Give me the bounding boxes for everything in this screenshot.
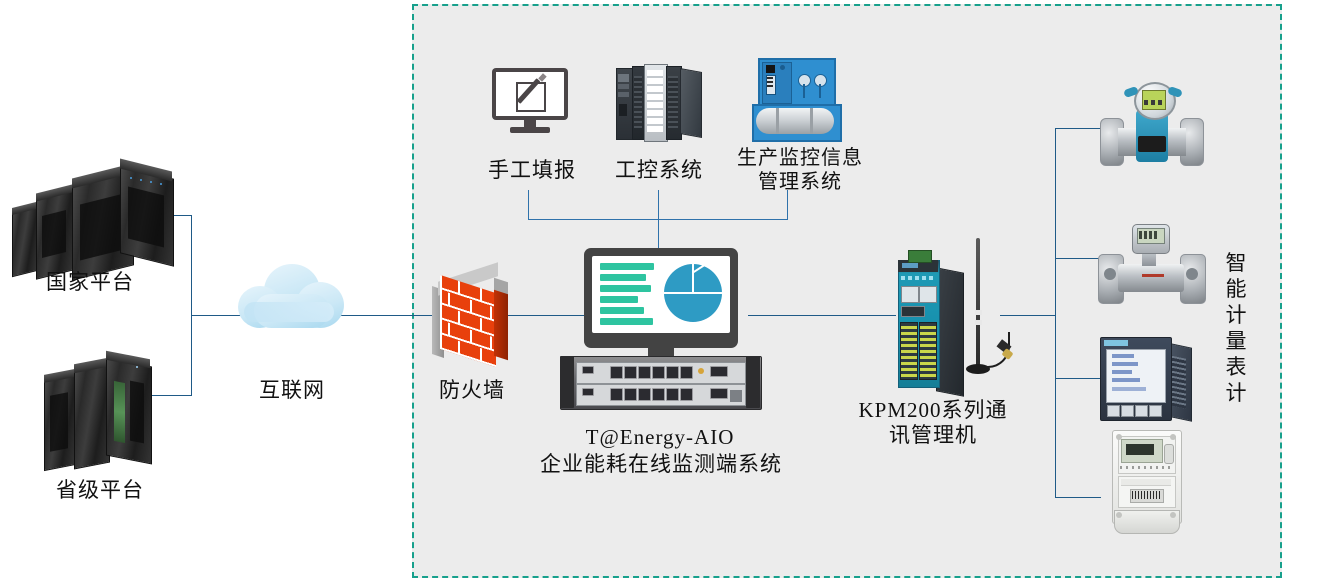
plc-label: 工控系统 <box>594 158 724 183</box>
gateway-label-line1: KPM200系列通 <box>838 398 1028 423</box>
firewall-node[interactable] <box>432 270 512 366</box>
link-manual-drop <box>528 190 529 220</box>
gateway-label-line2: 讯管理机 <box>838 423 1028 448</box>
smart-meters-label: 智能计量表计 <box>1224 250 1250 406</box>
antenna-icon <box>976 238 980 368</box>
gateway-node[interactable] <box>890 238 1010 418</box>
provincial-platform-label: 省级平台 <box>20 478 180 503</box>
plc-node[interactable] <box>616 62 702 142</box>
national-platform-label: 国家平台 <box>10 270 170 295</box>
manual-entry-label: 手工填报 <box>462 158 602 183</box>
meter-electromagnetic-flowmeter[interactable] <box>1100 78 1204 170</box>
meter-vertical-bus <box>1055 128 1056 498</box>
aio-label-line1: T@Energy-AIO <box>560 425 760 450</box>
meter-power-quality[interactable] <box>1100 335 1200 421</box>
aio-label-line2: 企业能耗在线监测端系统 <box>530 452 792 477</box>
production-monitoring-node[interactable] <box>752 58 842 142</box>
meter-turbine-flowmeter[interactable] <box>1098 222 1206 308</box>
link-vertical-bus-left <box>191 215 192 396</box>
production-monitoring-label: 生产监控信息 管理系统 <box>712 146 888 194</box>
manual-entry-node[interactable] <box>492 68 572 140</box>
link-aio-to-gateway <box>748 315 896 316</box>
firewall-label: 防火墙 <box>412 378 532 403</box>
link-mes-drop <box>787 190 788 220</box>
link-meterbus-to-meter-1 <box>1055 128 1101 129</box>
national-platform-node[interactable] <box>10 165 175 275</box>
internet-cloud-node[interactable] <box>238 264 346 340</box>
link-meterbus-to-meter-4 <box>1055 497 1101 498</box>
meter-electric-energy[interactable] <box>1112 430 1190 538</box>
firewall-brick-icon <box>440 275 496 367</box>
provincial-platform-node[interactable] <box>40 360 160 475</box>
internet-label: 互联网 <box>232 378 352 403</box>
link-plc-drop <box>658 190 659 220</box>
link-meterbus-to-meter-2 <box>1055 258 1101 259</box>
link-meterbus-to-meter-3 <box>1055 378 1101 379</box>
aio-system-node[interactable] <box>560 248 760 418</box>
